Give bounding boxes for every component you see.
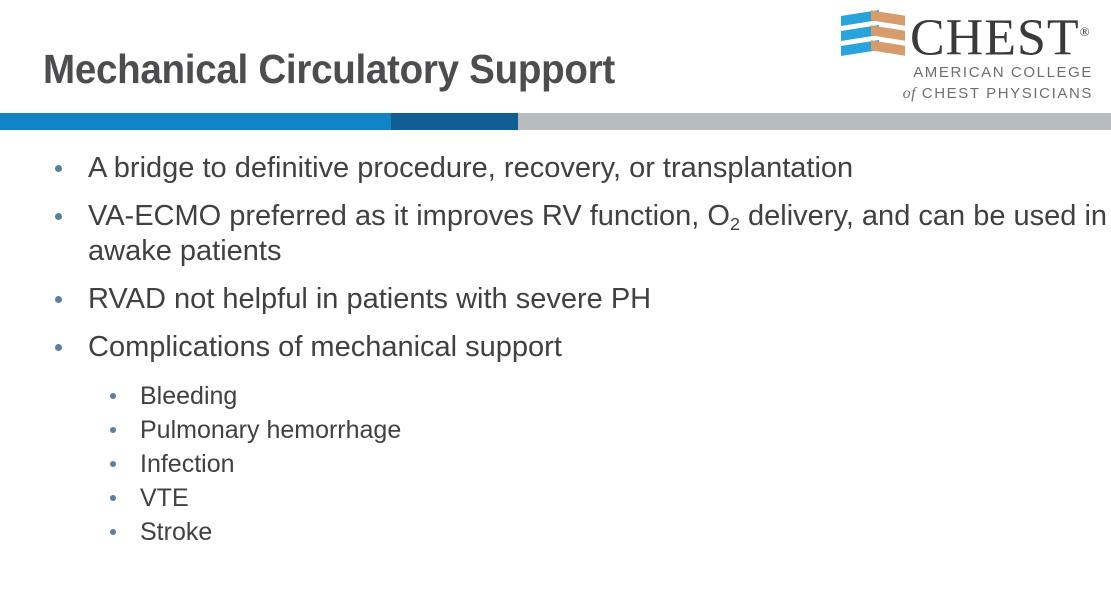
stripe-row xyxy=(841,43,905,54)
bullet-dot-icon xyxy=(55,296,62,303)
accent-bar xyxy=(0,113,1111,130)
chest-stripes-icon xyxy=(841,12,905,58)
logo-tagline-of: of xyxy=(903,85,916,102)
logo-tagline-line2: of CHEST PHYSICIANS xyxy=(841,84,1093,104)
list-item: VTE xyxy=(88,481,1111,515)
sub-bullet-text: Pulmonary hemorrhage xyxy=(140,416,401,444)
logo-tagline-chest-physicians: CHEST PHYSICIANS xyxy=(922,85,1093,102)
list-item: Bleeding xyxy=(88,379,1111,413)
accent-bar-segment-light xyxy=(0,113,391,130)
list-item: Complications of mechanical support xyxy=(0,331,1111,363)
stripe-row xyxy=(841,13,905,24)
list-item: RVAD not helpful in patients with severe… xyxy=(0,283,1111,315)
bullet-text: Complications of mechanical support xyxy=(88,331,562,363)
bullet-text-main: Complications of mechanical support xyxy=(88,331,562,363)
bullet-dot-icon xyxy=(110,461,116,467)
stripe-row xyxy=(841,28,905,39)
chest-logo: CHEST® AMERICAN COLLEGE of CHEST PHYSICI… xyxy=(841,8,1093,106)
bullet-dot-icon xyxy=(55,213,62,220)
sub-bullet-wrapper: Bleeding Pulmonary hemorrhage Infection … xyxy=(0,379,1111,549)
accent-bar-segment-dark xyxy=(391,113,518,130)
bullet-dot-icon xyxy=(110,427,116,433)
bullet-text: A bridge to definitive procedure, recove… xyxy=(88,152,853,184)
presentation-slide: Mechanical Circulatory Support CHEST® xyxy=(0,0,1111,602)
list-item: Infection xyxy=(88,447,1111,481)
bullet-text: RVAD not helpful in patients with severe… xyxy=(88,283,651,315)
bullet-text-main: RVAD not helpful in patients with severe… xyxy=(88,283,651,315)
stripe-tan xyxy=(871,10,905,25)
sub-bullet-list: Bleeding Pulmonary hemorrhage Infection … xyxy=(88,379,1111,549)
bullet-text: VA-ECMO preferred as it improves RV func… xyxy=(88,200,1107,267)
logo-wordmark: CHEST® xyxy=(910,7,1090,63)
list-item: A bridge to definitive procedure, recove… xyxy=(0,152,1111,184)
accent-bar-segment-gray xyxy=(518,113,1111,130)
bullet-text-main: A bridge to definitive procedure, recove… xyxy=(88,152,853,184)
list-item: VA-ECMO preferred as it improves RV func… xyxy=(0,200,1111,267)
bullet-list: A bridge to definitive procedure, recove… xyxy=(0,152,1111,363)
bullet-dot-icon xyxy=(110,393,116,399)
sub-bullet-text: VTE xyxy=(140,484,189,512)
bullet-dot-icon xyxy=(55,344,62,351)
bullet-dot-icon xyxy=(110,495,116,501)
page-title: Mechanical Circulatory Support xyxy=(43,46,615,93)
bullet-text-subscript: 2 xyxy=(730,214,740,234)
list-item: Pulmonary hemorrhage xyxy=(88,413,1111,447)
registered-trademark-icon: ® xyxy=(1080,24,1090,39)
sub-bullet-text: Bleeding xyxy=(140,382,237,410)
stripe-tan xyxy=(871,25,905,40)
slide-body: A bridge to definitive procedure, recove… xyxy=(0,152,1111,549)
sub-bullet-text: Stroke xyxy=(140,518,212,546)
bullet-dot-icon xyxy=(55,165,62,172)
logo-wordmark-text: CHEST xyxy=(910,9,1080,66)
list-item: Stroke xyxy=(88,515,1111,549)
bullet-dot-icon xyxy=(110,529,116,535)
stripe-tan xyxy=(871,40,905,55)
logo-top-row: CHEST® xyxy=(841,8,1093,62)
bullet-text-main: VA-ECMO preferred as it improves RV func… xyxy=(88,200,730,232)
sub-bullet-text: Infection xyxy=(140,450,235,478)
